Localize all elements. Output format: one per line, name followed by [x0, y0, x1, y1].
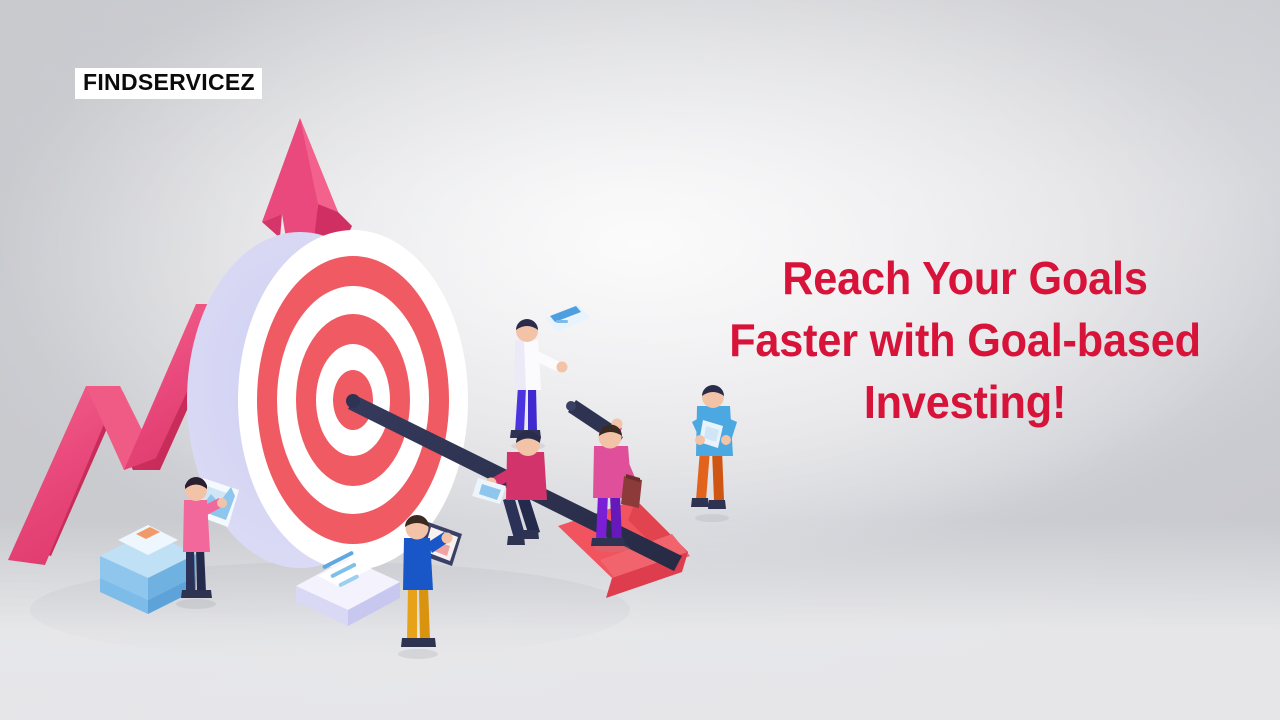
logo[interactable]: FINDSERVICEZ — [75, 68, 262, 99]
floating-card — [545, 304, 590, 332]
headline-line-3: Investing! — [690, 371, 1241, 433]
headline-line-2: Faster with Goal-based — [690, 309, 1241, 371]
person-white-shirt — [510, 319, 568, 450]
person-seated-crimson — [472, 431, 547, 545]
headline: Reach Your Goals Faster with Goal-based … — [690, 247, 1241, 433]
headline-line-1: Reach Your Goals — [690, 247, 1241, 309]
logo-text: FINDSERVICEZ — [83, 71, 255, 94]
dart-tip — [346, 394, 360, 408]
banner-root: FINDSERVICEZ Reach Your Goals Faster wit… — [0, 0, 1280, 720]
illustration — [0, 0, 760, 720]
